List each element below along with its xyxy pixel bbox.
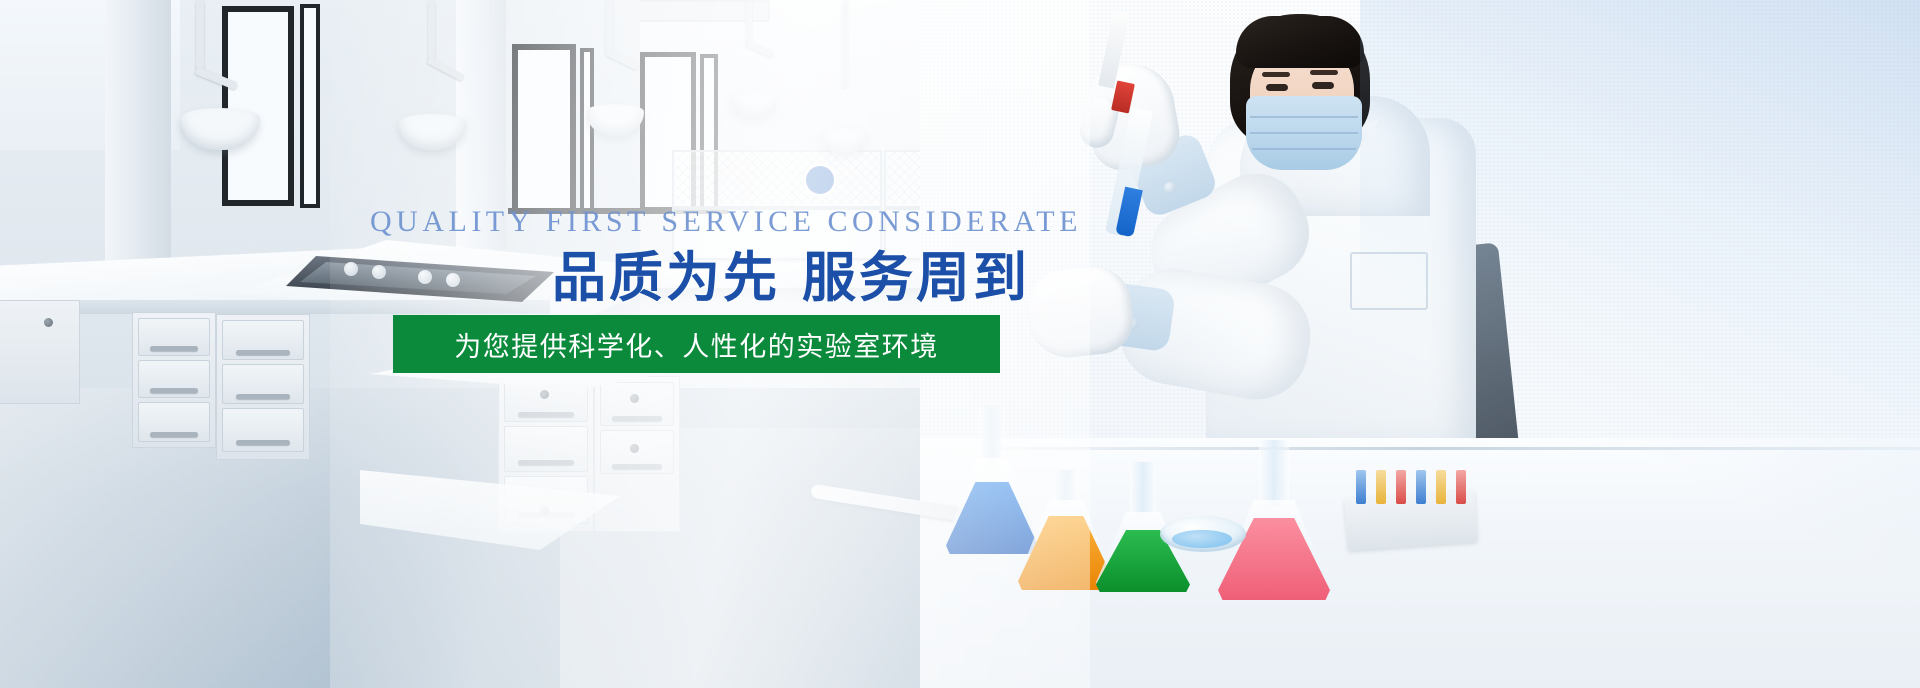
window (222, 6, 294, 206)
mask-pleat (1250, 116, 1358, 118)
drawer-handle (236, 350, 290, 355)
cuff-button (1164, 182, 1176, 194)
rack-tube (1456, 470, 1466, 504)
lamp-arm (428, 0, 435, 60)
drawer-handle (518, 412, 574, 417)
lamp-arm (842, 0, 848, 88)
drawer-handle (150, 346, 198, 351)
rack-tube (1436, 470, 1446, 504)
lamp-arm (196, 0, 204, 70)
eye-right (1312, 82, 1334, 89)
hair-fringe (1236, 16, 1364, 68)
mask-pleat (1252, 148, 1356, 150)
cabinet-lock (540, 390, 549, 399)
scientist-scene (920, 0, 1920, 688)
window (300, 4, 320, 208)
hero-banner: QUALITY FIRST SERVICE CONSIDERATE 品质为先服务… (0, 0, 1920, 688)
rack-tube (1416, 470, 1426, 504)
banner-subtitle-bar: 为您提供科学化、人性化的实验室环境 (393, 315, 1000, 373)
drawer-handle (150, 388, 198, 393)
flask-pink (1218, 440, 1330, 600)
flask-neck (1259, 440, 1289, 506)
bench-fitting (344, 262, 358, 276)
flask-neck (1130, 462, 1156, 514)
window (580, 48, 594, 214)
drawer-handle (236, 440, 290, 445)
eye-left (1266, 84, 1288, 91)
shelf-logo-badge (806, 166, 834, 194)
drawer (222, 408, 304, 452)
drawer-handle (150, 432, 198, 437)
drawer-handle (612, 464, 662, 469)
eyebrow-right (1310, 70, 1338, 75)
structural-column (105, 0, 171, 300)
lab-table-edge (920, 447, 1920, 450)
banner-eyebrow-text: QUALITY FIRST SERVICE CONSIDERATE (370, 205, 1030, 239)
drawer (504, 426, 588, 472)
shelf-mesh (674, 152, 880, 204)
banner-subtitle-text: 为您提供科学化、人性化的实验室环境 (454, 325, 939, 364)
lamp-arm (606, 0, 613, 52)
cabinet-lock (630, 444, 639, 453)
cabinet-lock (630, 394, 639, 403)
lab-coat-pocket (1350, 252, 1428, 310)
cabinet-lock (44, 318, 53, 327)
drawer-handle (236, 394, 290, 399)
headline-part-1: 品质为先 (552, 248, 780, 308)
rack-tube (1356, 470, 1366, 504)
drawer-handle (612, 416, 662, 421)
base-cabinet (0, 300, 80, 404)
flask-neck (1053, 470, 1079, 504)
lamp-arm (746, 0, 752, 44)
banner-headline: 品质为先服务周到 (370, 248, 1030, 308)
rack-tube (1396, 470, 1406, 504)
rack-tube (1376, 470, 1386, 504)
eyebrow-left (1262, 72, 1290, 77)
headline-part-2: 服务周到 (802, 248, 1030, 308)
mask-pleat (1250, 132, 1358, 134)
petri-dish-liquid (1172, 530, 1232, 548)
window (512, 44, 576, 214)
drawer-handle (518, 460, 574, 465)
